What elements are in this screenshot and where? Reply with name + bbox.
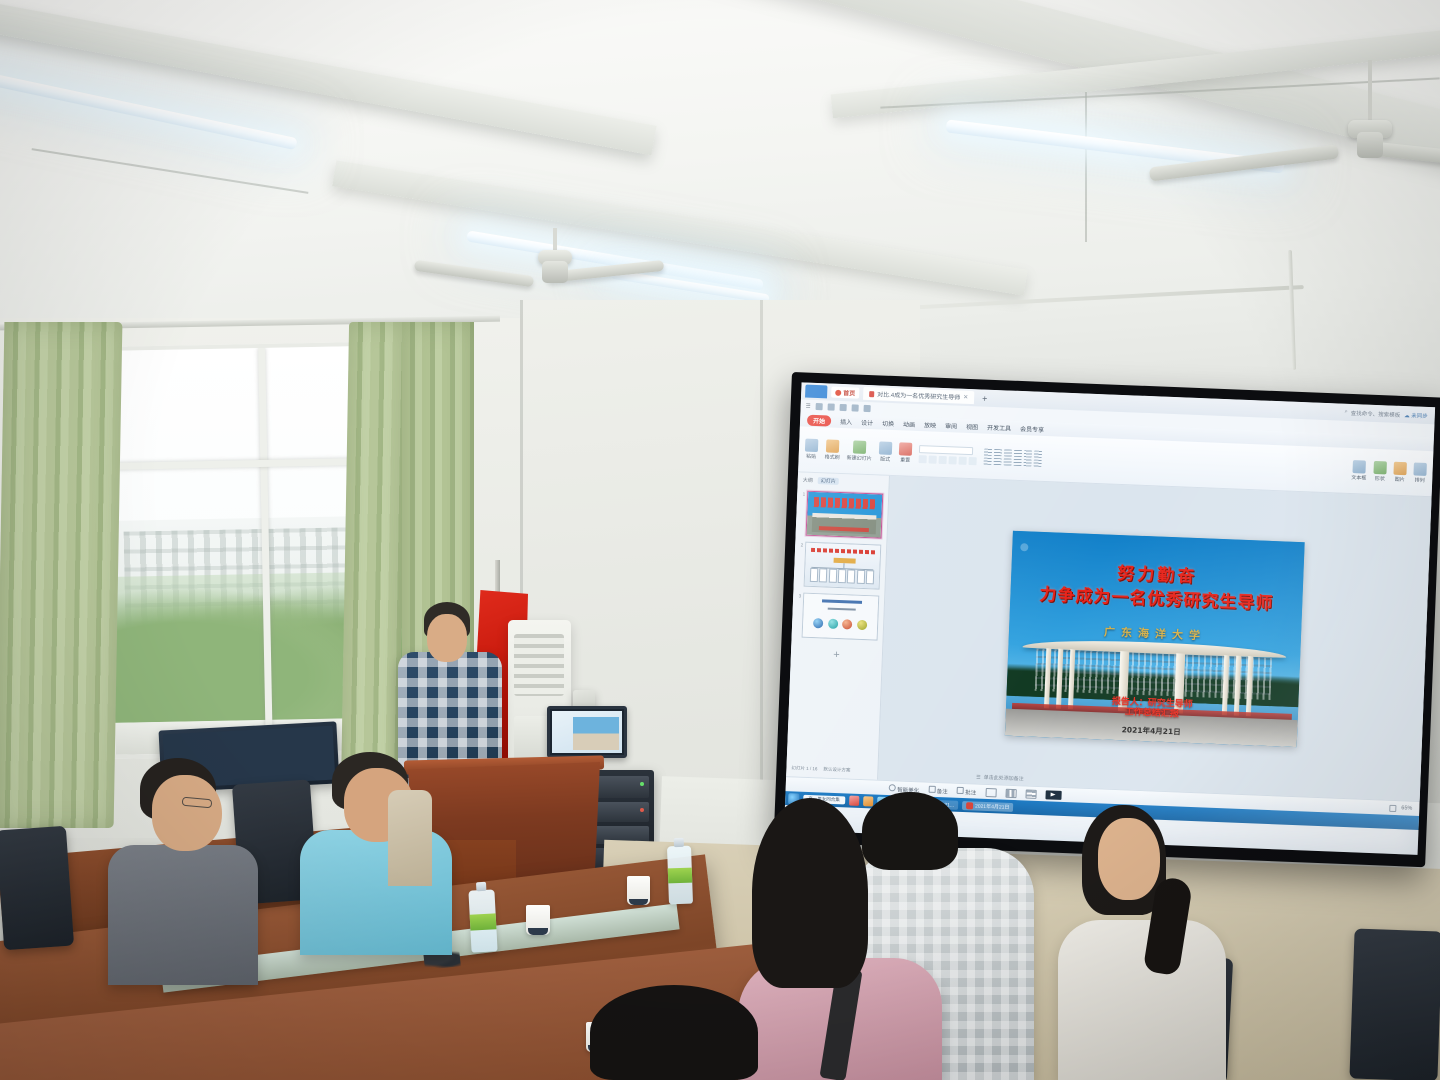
mail-icon[interactable] [863,796,873,806]
highlight-icon[interactable] [969,457,977,465]
ribbon-tab-view[interactable]: 视图 [966,421,978,430]
slide-placeholder-marker [1020,543,1028,551]
ceiling-seam [32,148,309,194]
smartart-icon[interactable] [1034,459,1042,466]
font-controls[interactable] [919,445,978,465]
close-tab-icon[interactable]: ✕ [963,394,968,401]
ribbon-reset[interactable]: 重置 [899,442,913,463]
slide-number: 1 [800,490,805,496]
notes-icon: ☰ [976,774,981,780]
format-painter-icon [826,439,840,453]
ceiling-fan [470,228,640,298]
ribbon-tab-slideshow[interactable]: 放映 [924,420,936,429]
tube-light [0,70,298,150]
chair [1349,929,1440,1080]
attendee-hair [590,985,758,1080]
ceiling-beam [0,0,657,155]
normal-view-icon[interactable] [985,787,996,796]
document-tab[interactable]: 对比.4成为一名优秀研究生导师 ✕ [863,387,974,404]
presenter-line-2: 工作总结汇报 [1125,707,1179,719]
bold-icon[interactable] [919,455,927,463]
ribbon-textbox[interactable]: 文本框 [1351,460,1367,482]
notes-pane[interactable]: ☰ 单击此处添加备注 [976,774,1024,783]
water-bottle [468,889,497,952]
paper-cup [627,876,650,905]
ribbon-tab-transition[interactable]: 切换 [882,418,894,427]
wall-seam [760,300,763,860]
comments-label: 批注 [965,790,976,796]
notes-icon [928,785,935,792]
wps-app-icon [835,389,841,395]
ppt-file-icon [869,391,874,397]
thumb-chart-node [838,569,846,583]
slide-stage[interactable]: 努力勤奋 力争成为一名优秀研究生导师 广东海洋大学 [878,476,1432,801]
taskbar-item-ppt[interactable]: 2021年4月21日 [962,801,1014,812]
arrange-icon [1413,462,1427,476]
thumb-chart-node [810,568,818,582]
ribbon-tab-member[interactable]: 会员专享 [1020,424,1044,434]
redo-icon[interactable] [839,404,846,411]
slide-thumbnail-pane[interactable]: 大纲 幻灯片 1 2 [786,472,890,779]
ceiling-seam [1085,92,1087,242]
ribbon-picture[interactable]: 图片 [1393,462,1407,483]
start-slideshow-button[interactable] [1045,790,1061,800]
slide-thumbnail-2[interactable] [804,542,882,590]
thumb-circle [813,618,823,628]
save-icon[interactable] [815,403,822,410]
paragraph-controls[interactable] [984,448,1043,466]
slide-thumb-item[interactable]: 1 [799,490,886,538]
text-direction-icon[interactable] [1024,459,1032,466]
reading-view-icon[interactable] [1025,789,1036,798]
beautify-icon [889,784,896,791]
comments-button[interactable]: 批注 [957,786,977,796]
presenter-head [427,614,467,662]
ribbon-new-slide[interactable]: 新建幻灯片 [847,440,873,462]
slide-sorter-view-icon[interactable] [1005,788,1016,797]
attendee-torso [108,845,258,985]
line-spacing-icon[interactable] [1024,450,1032,457]
align-right-icon[interactable] [994,457,1002,464]
ribbon-format-painter-label: 格式刷 [825,453,840,461]
chair [0,826,74,951]
ribbon-textbox-label: 文本框 [1351,474,1366,482]
thumb-chart-node [866,570,874,584]
align-left-icon[interactable] [1034,450,1042,457]
curtain-left [0,322,122,828]
slide-number: 2 [798,541,803,547]
ribbon-layout-label: 版式 [880,456,890,463]
ribbon-shape[interactable]: 形状 [1373,461,1387,482]
zoom-controls[interactable]: 65% [1389,804,1412,812]
thumb-chart-node [857,570,865,584]
outline-tab[interactable]: 大纲 [803,477,813,484]
slides-tab[interactable]: 幻灯片 [818,477,839,485]
textbox-icon [1352,460,1366,474]
editor-body[interactable]: 大纲 幻灯片 1 2 [786,472,1431,801]
bullets-icon[interactable] [984,448,992,455]
bottle-label [668,868,693,884]
align-justify-icon[interactable] [1004,458,1012,465]
cloud-sync-status[interactable]: ☁ 未同步 [1404,411,1431,420]
comment-icon [957,786,964,793]
ribbon-tab-design[interactable]: 设计 [861,417,873,426]
export-pdf-icon[interactable] [863,405,870,412]
notes-label: 备注 [937,789,948,795]
strikethrough-icon[interactable] [949,456,957,464]
slide-thumb-item[interactable]: 3 [795,592,882,640]
thumb-chart-nodes [810,568,875,585]
ribbon-tab-devtools[interactable]: 开发工具 [987,422,1011,432]
thumb-circle [828,619,838,629]
slide-pane-tabs[interactable]: 大纲 幻灯片 [801,475,886,487]
rack-led [640,782,644,786]
new-slide-icon [853,440,867,454]
wps-home-label: 首页 [843,388,855,397]
slide-thumbnail-3[interactable] [802,593,880,641]
picture-icon [1393,462,1407,476]
attendee-hair [752,798,868,988]
slide-number: 3 [796,592,801,598]
bottle-label [470,913,497,930]
align-center-icon[interactable] [984,457,992,464]
bottle-cap [476,882,486,892]
rack-led [640,808,644,812]
search-icon: ⌕ [1345,409,1348,416]
ppt-icon [966,802,973,809]
add-slide-button[interactable]: + [794,647,879,662]
fan-motor [542,261,568,283]
font-color-icon[interactable] [959,456,967,464]
layout-icon [879,441,893,455]
fan-rod [553,228,557,252]
monitor-screen [552,711,622,753]
monitor-slide-preview [573,717,619,750]
print-icon[interactable] [851,404,858,411]
ribbon-tab-animation[interactable]: 动画 [903,419,915,428]
attendee-head [152,775,222,851]
font-name-input[interactable] [919,445,973,455]
photo-scene: 首页 对比.4成为一名优秀研究生导师 ✕ + ⌕ 查找命令、搜索模板 ☁ 未同步 [0,0,1440,1080]
water-bottle [667,846,693,905]
font-style-buttons[interactable] [919,455,977,465]
menu-icon[interactable]: ☰ [806,403,811,409]
attendee-torso [1058,920,1226,1080]
ribbon-tab-review[interactable]: 审阅 [945,421,957,430]
presenter-monitor [547,706,627,758]
reset-icon [899,442,913,456]
fit-to-window-icon[interactable] [1389,804,1396,811]
paste-icon [805,439,819,453]
thumb-chart-node [819,568,827,582]
zoom-level-label[interactable]: 65% [1401,805,1412,811]
numbering-icon[interactable] [994,448,1002,455]
ribbon-paste-label: 粘贴 [806,453,816,460]
attendee-torso [388,790,432,886]
current-slide[interactable]: 努力勤奋 力争成为一名优秀研究生导师 广东海洋大学 [1005,530,1305,746]
new-tab-button[interactable]: + [978,393,992,404]
attendee-hair [862,792,958,870]
ribbon-shape-label: 形状 [1375,475,1385,482]
slide-thumbnail-1[interactable] [806,491,884,539]
underline-icon[interactable] [939,455,947,463]
ribbon-tab-start[interactable]: 开始 [807,414,831,426]
undo-icon[interactable] [827,403,834,410]
ac-vent-grill [514,634,564,696]
ribbon-picture-label: 图片 [1395,476,1405,483]
fan-rod [1368,60,1372,122]
notes-placeholder: 单击此处添加备注 [984,774,1024,783]
slide-pane-footer: 幻灯片 1 / 16 默认设计方案 [789,763,874,776]
attendee-head [1098,818,1160,900]
ribbon-format-painter[interactable]: 格式刷 [825,439,841,461]
display-screen[interactable]: 首页 对比.4成为一名优秀研究生导师 ✕ + ⌕ 查找命令、搜索模板 ☁ 未同步 [784,382,1435,855]
document-tab-title: 对比.4成为一名优秀研究生导师 [877,389,960,401]
wps-logo-icon [805,385,827,399]
thumb-chart-node [847,569,855,583]
ribbon-layout[interactable]: 版式 [879,441,893,462]
ribbon-paste[interactable]: 粘贴 [805,439,819,460]
ceiling-fan [1245,60,1440,190]
indent-decrease-icon[interactable] [1004,449,1012,456]
taskbar-item-ppt-label: 2021年4月21日 [975,802,1010,810]
design-scheme-label: 默认设计方案 [823,767,850,774]
bottle-cap [674,838,684,847]
thumb-chart-root [834,558,856,564]
notes-button[interactable]: 备注 [928,785,948,795]
ribbon-arrange[interactable]: 排列 [1413,462,1427,483]
command-search[interactable]: ⌕ 查找命令、搜索模板 [1345,408,1401,418]
ribbon-reset-label: 重置 [900,456,910,463]
ribbon-new-slide-label: 新建幻灯片 [847,454,872,462]
slide-thumb-item[interactable]: 2 [797,541,884,589]
shape-icon [1373,461,1387,475]
thumb-circle [842,619,852,629]
slide-count-label: 幻灯片 1 / 16 [791,765,817,772]
wall-display[interactable]: 首页 对比.4成为一名优秀研究生导师 ✕ + ⌕ 查找命令、搜索模板 ☁ 未同步 [774,372,1440,867]
columns-icon[interactable] [1014,458,1022,465]
paper-cup [526,905,550,935]
wps-icon[interactable] [849,796,859,806]
search-placeholder: 查找命令、搜索模板 [1351,408,1401,418]
wps-home-tab[interactable]: 首页 [831,387,859,399]
italic-icon[interactable] [929,455,937,463]
ribbon-tab-insert[interactable]: 插入 [840,416,852,425]
indent-increase-icon[interactable] [1014,449,1022,456]
thumb-circle [857,620,867,630]
cloud-icon: ☁ [1404,413,1410,419]
thumb-chart-node [828,569,836,583]
fan-motor [1357,132,1383,158]
cloud-label: 未同步 [1411,413,1428,420]
ribbon-arrange-label: 排列 [1415,477,1425,484]
